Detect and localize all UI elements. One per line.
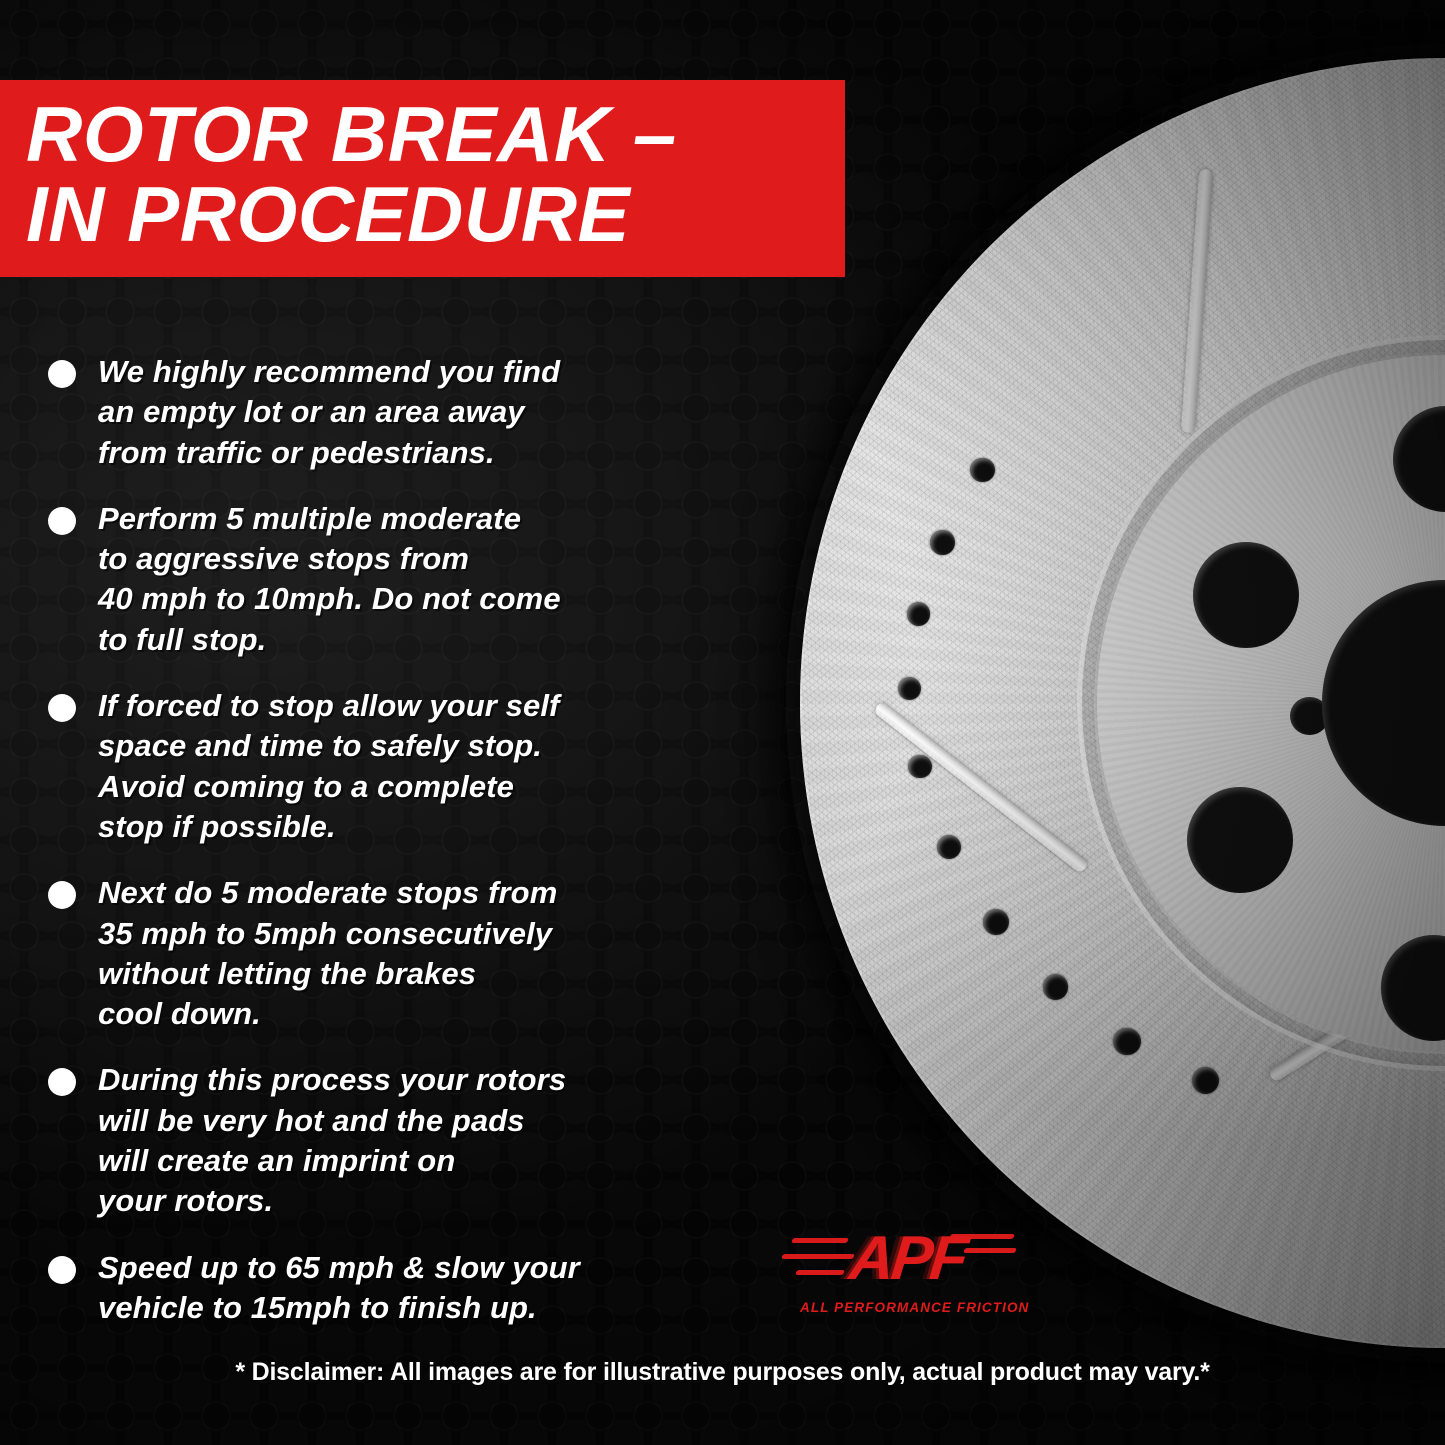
list-item: We highly recommend you find an empty lo… xyxy=(48,352,768,473)
apf-wordmark: APF xyxy=(847,1228,969,1290)
procedure-step-list: We highly recommend you find an empty lo… xyxy=(48,352,768,1354)
step-text: We highly recommend you find an empty lo… xyxy=(98,352,560,473)
bullet-icon xyxy=(48,507,76,535)
step-text: Next do 5 moderate stops from 35 mph to … xyxy=(98,873,557,1034)
apf-logo: APF ALL PERFORMANCE FRICTION xyxy=(800,1228,1015,1315)
speed-streak-icon xyxy=(795,1270,845,1275)
speed-streak-icon xyxy=(791,1238,849,1243)
list-item: Next do 5 moderate stops from 35 mph to … xyxy=(48,873,768,1034)
bullet-icon xyxy=(48,1068,76,1096)
list-item: If forced to stop allow your self space … xyxy=(48,686,768,847)
bullet-icon xyxy=(48,694,76,722)
page-title-line-2: IN PROCEDURE xyxy=(26,174,819,254)
step-text: If forced to stop allow your self space … xyxy=(98,686,559,847)
bullet-icon xyxy=(48,360,76,388)
title-banner: ROTOR BREAK – IN PROCEDURE xyxy=(0,80,845,277)
apf-logo-mark: APF xyxy=(800,1228,1015,1294)
speed-streak-icon xyxy=(781,1254,855,1259)
speed-streak-icon xyxy=(963,1248,1017,1253)
apf-tagline: ALL PERFORMANCE FRICTION xyxy=(800,1300,1015,1315)
step-text: Speed up to 65 mph & slow your vehicle t… xyxy=(98,1248,580,1329)
step-text: Perform 5 multiple moderate to aggressiv… xyxy=(98,499,561,660)
bullet-icon xyxy=(48,881,76,909)
list-item: Speed up to 65 mph & slow your vehicle t… xyxy=(48,1248,768,1329)
infographic-canvas: ROTOR BREAK – IN PROCEDURE We highly rec… xyxy=(0,0,1445,1445)
page-title-line-1: ROTOR BREAK – xyxy=(26,94,819,174)
disclaimer-text: * Disclaimer: All images are for illustr… xyxy=(0,1358,1445,1387)
list-item: Perform 5 multiple moderate to aggressiv… xyxy=(48,499,768,660)
bullet-icon xyxy=(48,1256,76,1284)
step-text: During this process your rotors will be … xyxy=(98,1060,566,1221)
list-item: During this process your rotors will be … xyxy=(48,1060,768,1221)
